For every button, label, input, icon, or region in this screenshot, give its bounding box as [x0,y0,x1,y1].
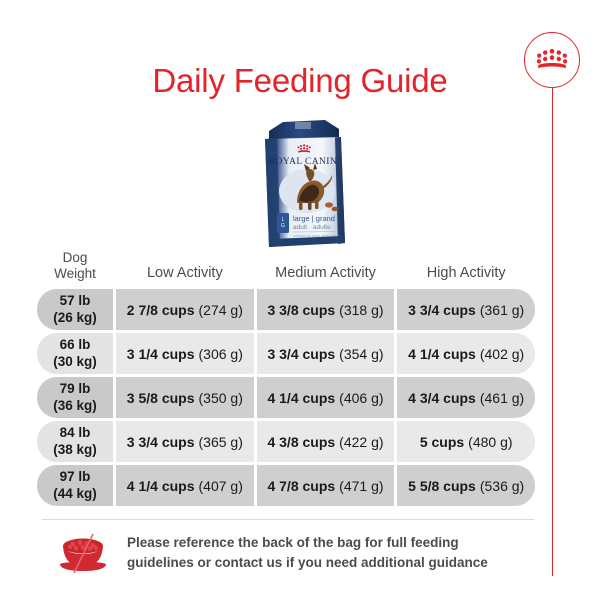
weight-kg: (44 kg) [41,486,109,502]
grams-amount: (402 g) [480,346,524,362]
cups-amount: 4 1/4 cups [127,478,195,494]
cell-high-activity: 3 3/4 cups(361 g) [397,289,535,330]
cups-amount: 4 7/8 cups [267,478,335,494]
grams-amount: (406 g) [339,390,383,406]
column-header-dog-weight-line1: Dog [41,250,109,266]
grams-amount: (354 g) [339,346,383,362]
cell-high-activity: 5 5/8 cups(536 g) [397,465,535,506]
svg-text:G: G [281,223,285,229]
footer-note: Please reference the back of the bag for… [55,532,525,574]
table-header-row: Dog Weight Low Activity Medium Activity … [37,248,535,284]
grams-amount: (350 g) [199,390,243,406]
cell-dog-weight: 84 lb (38 kg) [37,421,113,462]
weight-kg: (36 kg) [41,398,109,414]
grams-amount: (306 g) [199,346,243,362]
cups-amount: 4 1/4 cups [267,390,335,406]
cups-amount: 4 3/4 cups [408,390,476,406]
table-row: 66 lb (30 kg) 3 1/4 cups(306 g) 3 3/4 cu… [37,333,535,374]
cups-amount: 3 3/4 cups [267,346,335,362]
cell-dog-weight: 97 lb (44 kg) [37,465,113,506]
cell-medium-activity: 4 7/8 cups(471 g) [257,465,395,506]
cups-amount: 4 1/4 cups [408,346,476,362]
column-header-dog-weight-line2: Weight [41,266,109,282]
svg-text:adult · adulte: adult · adulte [293,224,331,231]
column-header-low-activity: Low Activity [116,248,254,284]
feeding-table: Dog Weight Low Activity Medium Activity … [37,248,535,509]
table-row: 57 lb (26 kg) 2 7/8 cups(274 g) 3 3/8 cu… [37,289,535,330]
grams-amount: (536 g) [480,478,524,494]
cups-amount: 4 3/8 cups [267,434,335,450]
weight-kg: (38 kg) [41,442,109,458]
cups-amount: 2 7/8 cups [127,302,195,318]
cell-high-activity: 5 cups(480 g) [397,421,535,462]
weight-kg: (26 kg) [41,310,109,326]
dog-food-bowl-icon [55,532,111,574]
cell-low-activity: 3 1/4 cups(306 g) [116,333,254,374]
weight-lb: 57 lb [41,293,109,309]
grams-amount: (365 g) [199,434,243,450]
grams-amount: (407 g) [199,478,243,494]
cell-low-activity: 4 1/4 cups(407 g) [116,465,254,506]
weight-lb: 84 lb [41,425,109,441]
product-bag-image: ROYAL CANIN L G large | grand adult · ad… [253,117,353,250]
footer-divider [42,519,534,520]
cups-amount: 3 1/4 cups [127,346,195,362]
grams-amount: (318 g) [339,302,383,318]
weight-lb: 97 lb [41,469,109,485]
cell-medium-activity: 4 1/4 cups(406 g) [257,377,395,418]
weight-lb: 79 lb [41,381,109,397]
cell-dog-weight: 79 lb (36 kg) [37,377,113,418]
table-row: 79 lb (36 kg) 3 5/8 cups(350 g) 4 1/4 cu… [37,377,535,418]
grams-amount: (422 g) [339,434,383,450]
column-header-medium-activity: Medium Activity [257,248,395,284]
cups-amount: 5 cups [420,434,464,450]
grams-amount: (361 g) [480,302,524,318]
cell-medium-activity: 3 3/8 cups(318 g) [257,289,395,330]
column-header-high-activity: High Activity [397,248,535,284]
cell-low-activity: 3 5/8 cups(350 g) [116,377,254,418]
royal-canin-dog-food-bag: ROYAL CANIN L G large | grand adult · ad… [253,117,353,250]
table-row: 97 lb (44 kg) 4 1/4 cups(407 g) 4 7/8 cu… [37,465,535,506]
cell-medium-activity: 4 3/8 cups(422 g) [257,421,395,462]
grams-amount: (461 g) [480,390,524,406]
svg-text:ROYAL CANIN: ROYAL CANIN [269,157,337,167]
grams-amount: (480 g) [468,434,512,450]
grams-amount: (274 g) [199,302,243,318]
svg-text:large | grand: large | grand [293,214,335,223]
footer-text: Please reference the back of the bag for… [127,533,488,572]
cups-amount: 3 3/4 cups [127,434,195,450]
footer-text-line2: guidelines or contact us if you need add… [127,553,488,573]
cups-amount: 3 3/4 cups [408,302,476,318]
cell-high-activity: 4 3/4 cups(461 g) [397,377,535,418]
cell-dog-weight: 66 lb (30 kg) [37,333,113,374]
table-row: 84 lb (38 kg) 3 3/4 cups(365 g) 4 3/8 cu… [37,421,535,462]
column-header-dog-weight: Dog Weight [37,248,113,284]
cell-dog-weight: 57 lb (26 kg) [37,289,113,330]
weight-lb: 66 lb [41,337,109,353]
cups-amount: 5 5/8 cups [408,478,476,494]
cell-medium-activity: 3 3/4 cups(354 g) [257,333,395,374]
cups-amount: 3 5/8 cups [127,390,195,406]
cell-high-activity: 4 1/4 cups(402 g) [397,333,535,374]
cups-amount: 3 3/8 cups [267,302,335,318]
cell-low-activity: 3 3/4 cups(365 g) [116,421,254,462]
grams-amount: (471 g) [339,478,383,494]
footer-text-line1: Please reference the back of the bag for… [127,533,488,553]
weight-kg: (30 kg) [41,354,109,370]
cell-low-activity: 2 7/8 cups(274 g) [116,289,254,330]
page-title: Daily Feeding Guide [0,62,600,100]
logo-stem-line [552,88,554,576]
